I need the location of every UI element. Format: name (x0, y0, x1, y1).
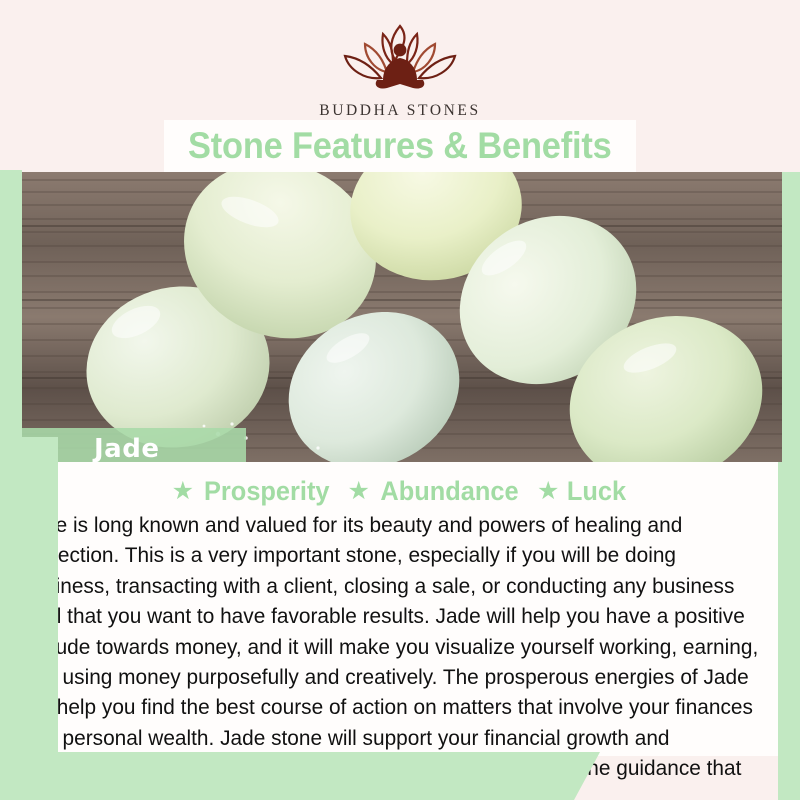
benefits-row: ★ Prosperity ★ Abundance ★ Luck (0, 476, 800, 507)
benefit-item: ★ Prosperity (172, 476, 334, 507)
lotus-meditation-icon (325, 18, 475, 96)
brand-header: BUDDHA STONES (0, 18, 800, 120)
star-icon: ★ (348, 479, 370, 504)
benefit-label: Prosperity (204, 476, 330, 507)
benefit-item: ★ Luck (537, 476, 628, 507)
decor-bottom-green-band (0, 752, 600, 800)
jade-stones-photo (18, 172, 782, 462)
stone-name-label: Jade (94, 434, 159, 464)
benefit-item: ★ Abundance (348, 476, 523, 507)
poster-root: BUDDHA STONES Stone Features & Benefits … (0, 0, 800, 800)
star-icon: ★ (537, 479, 559, 504)
decor-left-green-block (0, 437, 58, 800)
brand-name: BUDDHA STONES (319, 102, 480, 120)
benefit-label: Luck (567, 476, 626, 507)
title-banner: Stone Features & Benefits (164, 120, 636, 172)
star-icon: ★ (172, 479, 194, 504)
page-title: Stone Features & Benefits (188, 125, 612, 167)
benefit-label: Abundance (380, 476, 518, 507)
